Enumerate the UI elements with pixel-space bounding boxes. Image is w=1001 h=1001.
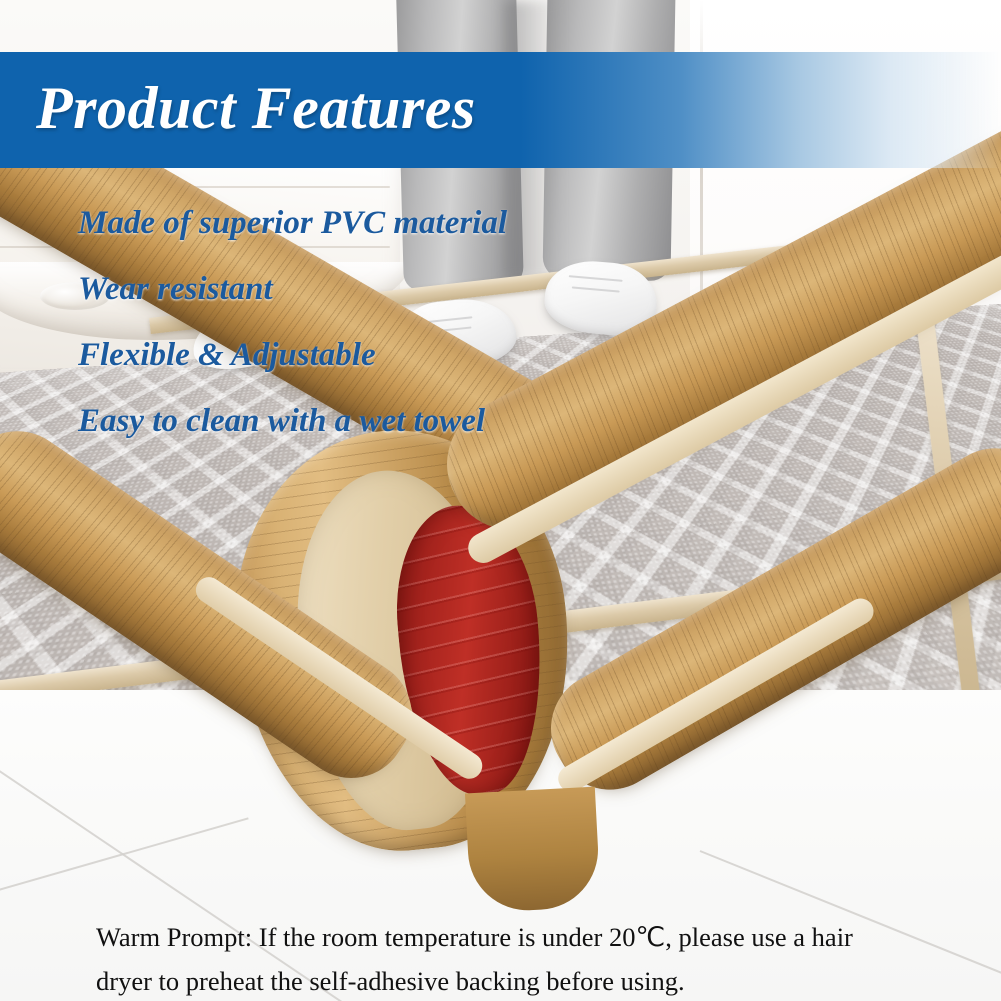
- feature-list: Made of superior PVC material Wear resis…: [78, 190, 778, 454]
- product-feature-image: Product Features Made of superior PVC ma…: [0, 0, 1001, 1001]
- feature-item: Wear resistant: [78, 256, 778, 322]
- strip-v-tip: [465, 787, 601, 914]
- warm-prompt-note: Warm Prompt: If the room temperature is …: [96, 915, 926, 1001]
- warm-prompt-line-1: Warm Prompt: If the room temperature is …: [96, 915, 926, 959]
- warm-prompt-line-2: dryer to preheat the self-adhesive backi…: [96, 959, 926, 1001]
- page-title: Product Features: [36, 50, 476, 166]
- feature-item: Easy to clean with a wet towel: [78, 388, 778, 454]
- feature-item: Flexible & Adjustable: [78, 322, 778, 388]
- feature-item: Made of superior PVC material: [78, 190, 778, 256]
